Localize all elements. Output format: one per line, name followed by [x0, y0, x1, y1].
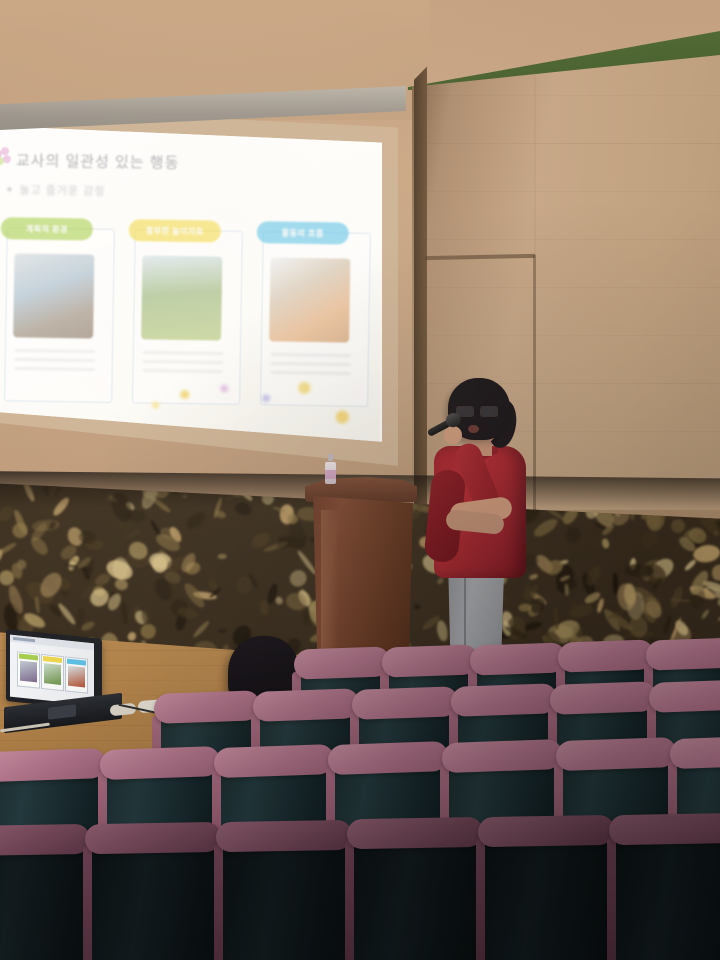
seat-back	[484, 829, 610, 960]
seat-headrest	[670, 735, 720, 769]
slide-content: 교사의 일관성 있는 행동 놀고 즐거운 감정 계획적 환경 풍부한 놀이자료	[0, 112, 382, 452]
seat-back	[0, 838, 86, 960]
seat-headrest	[0, 748, 106, 782]
seat-headrest	[550, 681, 656, 715]
bottle-cap	[328, 454, 333, 461]
card-caption	[270, 353, 350, 380]
water-bottle	[325, 454, 336, 484]
lecture-hall-photo: 교사의 일관성 있는 행동 놀고 즐거운 감정 계획적 환경 풍부한 놀이자료	[0, 0, 720, 960]
seat-headrest	[556, 737, 676, 771]
seat-headrest	[470, 642, 566, 675]
card-caption	[142, 351, 222, 378]
card-photo	[13, 253, 94, 338]
seat-back	[615, 827, 720, 960]
auditorium-seat	[91, 822, 217, 960]
card-tab-label: 활동의 흐름	[257, 221, 349, 244]
card-tab-label: 계획적 환경	[1, 217, 93, 240]
petal-decor-icon	[152, 402, 159, 409]
auditorium-seat	[615, 813, 720, 960]
seat-headrest	[352, 686, 458, 720]
auditorium-seating	[0, 640, 720, 960]
projection-screen: 교사의 일관성 있는 행동 놀고 즐거운 감정 계획적 환경 풍부한 놀이자료	[0, 112, 382, 452]
auditorium-seat	[0, 824, 86, 960]
slide-card: 계획적 환경	[0, 217, 113, 409]
petal-decor-icon	[180, 390, 189, 399]
card-tab-label: 풍부한 놀이자료	[129, 219, 221, 242]
seat-headrest	[214, 744, 334, 778]
seat-divider	[345, 841, 354, 960]
seat-headrest	[216, 820, 352, 852]
glasses-icon	[456, 406, 498, 415]
slide-bullet-item: 놀고 즐거운 감정	[7, 181, 105, 199]
card-caption	[15, 349, 95, 376]
card-photo	[269, 257, 350, 342]
seat-headrest	[382, 644, 478, 677]
bottle-label	[325, 470, 336, 479]
seat-divider	[607, 837, 616, 960]
seat-divider	[83, 846, 92, 960]
slide-bullet-text: 놀고 즐거운 감정	[19, 181, 105, 198]
auditorium-seat	[484, 815, 610, 960]
petal-decor-icon	[298, 382, 310, 394]
seat-back	[222, 834, 348, 960]
auditorium-seat	[353, 817, 479, 960]
seat-headrest	[558, 639, 654, 672]
seat-divider	[476, 839, 485, 960]
petal-decor-icon	[336, 410, 349, 423]
seat-headrest	[100, 746, 220, 780]
petal-decor-icon	[262, 394, 270, 402]
seat-headrest	[442, 739, 562, 773]
petal-decor-icon	[220, 385, 228, 393]
seat-divider	[214, 844, 223, 960]
seat-headrest	[253, 688, 359, 722]
seat-headrest	[451, 683, 557, 717]
seat-headrest	[154, 690, 260, 724]
seat-headrest	[0, 824, 90, 856]
seat-headrest	[347, 817, 483, 849]
slide-card: 풍부한 놀이자료	[126, 219, 241, 411]
seat-headrest	[646, 637, 720, 670]
seat-headrest	[649, 679, 720, 713]
presenter-mouth	[468, 425, 479, 433]
seat-headrest	[609, 813, 720, 845]
seat-back	[91, 836, 217, 960]
auditorium-seat	[222, 820, 348, 960]
flower-decor-icon	[0, 147, 12, 165]
slide-card-row: 계획적 환경 풍부한 놀이자료 활동의 흐름	[0, 217, 369, 413]
seat-headrest	[328, 741, 448, 775]
slide-card: 활동의 흐름	[254, 221, 369, 413]
seat-headrest	[478, 815, 614, 847]
card-photo	[141, 255, 222, 340]
seat-headrest	[85, 822, 221, 854]
bullet-dot-icon	[7, 187, 11, 191]
seat-headrest	[294, 646, 390, 679]
slide-title: 교사의 일관성 있는 행동	[16, 149, 180, 173]
seat-back	[353, 831, 479, 960]
